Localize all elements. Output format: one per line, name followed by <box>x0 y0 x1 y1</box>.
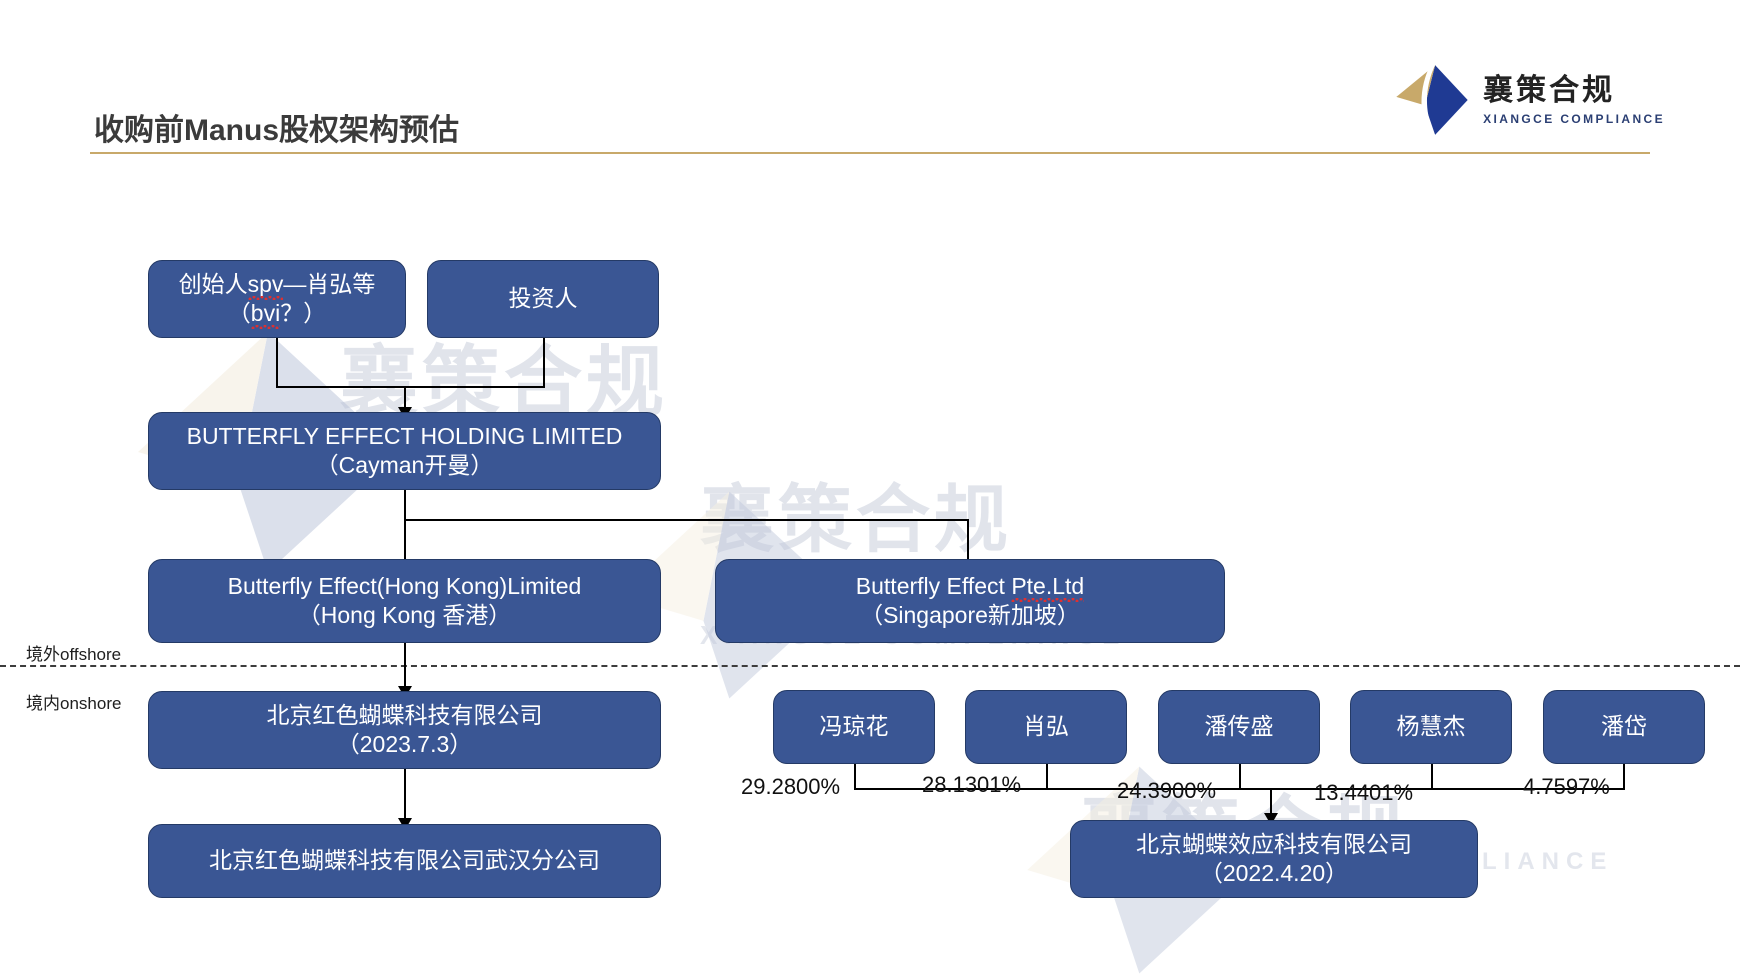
connector-founder-down <box>276 337 278 387</box>
shareholder-name: 潘传盛 <box>1205 712 1274 741</box>
logo-name-cn: 襄策合规 <box>1483 76 1665 106</box>
node-founder-spv-line1: 创始人spv—肖弘等 <box>179 270 376 299</box>
node-beijing-butterfly-effect-line2: （2022.4.20） <box>1136 859 1412 888</box>
node-singapore-line2: （Singapore新加坡） <box>856 601 1084 630</box>
offshore-onshore-divider <box>0 665 1740 667</box>
connector-cayman-to-singapore <box>404 519 969 521</box>
shareholder-percent: 24.3900% <box>1117 778 1216 804</box>
node-beijing-red-butterfly-line1: 北京红色蝴蝶科技有限公司 <box>267 701 543 730</box>
shareholder-percent: 4.7597% <box>1523 774 1610 800</box>
connector-shareholder-down <box>1431 763 1433 789</box>
node-shareholder[interactable]: 杨慧杰 <box>1350 690 1512 764</box>
onshore-label: 境内onshore <box>26 689 121 714</box>
connector-shareholder-down <box>1623 763 1625 789</box>
node-wuhan-branch[interactable]: 北京红色蝴蝶科技有限公司武汉分公司 <box>148 824 661 898</box>
logo-text-block: 襄策合规 XIANGCE COMPLIANCE <box>1483 76 1665 125</box>
node-beijing-red-butterfly[interactable]: 北京红色蝴蝶科技有限公司 （2023.7.3） <box>148 691 661 769</box>
shareholder-name: 潘岱 <box>1601 712 1647 741</box>
slide-canvas: 襄策合规 襄策合规 XIANGCE COMPLIANCE 襄策合规 XIANGC… <box>0 0 1740 978</box>
node-investor[interactable]: 投资人 <box>427 260 659 338</box>
shareholder-name: 冯琼花 <box>820 712 889 741</box>
connector-shareholder-down <box>854 763 856 789</box>
node-hongkong-line2: （Hong Kong 香港） <box>228 601 582 630</box>
offshore-label: 境外offshore <box>26 640 121 665</box>
node-beijing-butterfly-effect-line1: 北京蝴蝶效应科技有限公司 <box>1136 830 1412 859</box>
node-founder-spv-line2: （bvi？） <box>179 299 376 328</box>
connector-shareholder-down <box>1239 763 1241 789</box>
brand-logo: 襄策合规 XIANGCE COMPLIANCE <box>1393 62 1665 138</box>
node-beijing-red-butterfly-line2: （2023.7.3） <box>267 730 543 759</box>
connector-tier1-bus <box>276 386 545 388</box>
connector-investor-down <box>543 337 545 387</box>
xiangce-diamond-logo-icon <box>1393 62 1471 138</box>
shareholder-percent: 29.2800% <box>741 774 840 800</box>
node-founder-spv[interactable]: 创始人spv—肖弘等 （bvi？） <box>148 260 406 338</box>
page-title: 收购前Manus股权架构预估 <box>94 105 459 149</box>
node-shareholder[interactable]: 潘传盛 <box>1158 690 1320 764</box>
node-singapore-line1: Butterfly Effect Pte.Ltd <box>856 572 1084 601</box>
node-wuhan-branch-line1: 北京红色蝴蝶科技有限公司武汉分公司 <box>209 846 600 875</box>
node-hongkong-line1: Butterfly Effect(Hong Kong)Limited <box>228 572 582 601</box>
header-divider-rule <box>90 152 1650 154</box>
shareholder-percent: 13.4401% <box>1314 780 1413 806</box>
node-singapore-entity[interactable]: Butterfly Effect Pte.Ltd （Singapore新加坡） <box>715 559 1225 643</box>
node-cayman-line2: （Cayman开曼） <box>187 451 623 480</box>
shareholder-name: 杨慧杰 <box>1397 712 1466 741</box>
node-hongkong-entity[interactable]: Butterfly Effect(Hong Kong)Limited （Hong… <box>148 559 661 643</box>
node-cayman-holding[interactable]: BUTTERFLY EFFECT HOLDING LIMITED （Cayman… <box>148 412 661 490</box>
connector-shareholder-down <box>1046 763 1048 789</box>
node-shareholder[interactable]: 潘岱 <box>1543 690 1705 764</box>
shareholder-percent: 28.1301% <box>922 772 1021 798</box>
shareholder-name: 肖弘 <box>1023 712 1069 741</box>
node-investor-line1: 投资人 <box>509 284 578 313</box>
node-shareholder[interactable]: 肖弘 <box>965 690 1127 764</box>
watermark-text: 襄策合规 <box>700 460 1012 567</box>
node-cayman-line1: BUTTERFLY EFFECT HOLDING LIMITED <box>187 422 623 451</box>
logo-name-en: XIANGCE COMPLIANCE <box>1483 113 1665 125</box>
node-shareholder[interactable]: 冯琼花 <box>773 690 935 764</box>
node-beijing-butterfly-effect[interactable]: 北京蝴蝶效应科技有限公司 （2022.4.20） <box>1070 820 1478 898</box>
